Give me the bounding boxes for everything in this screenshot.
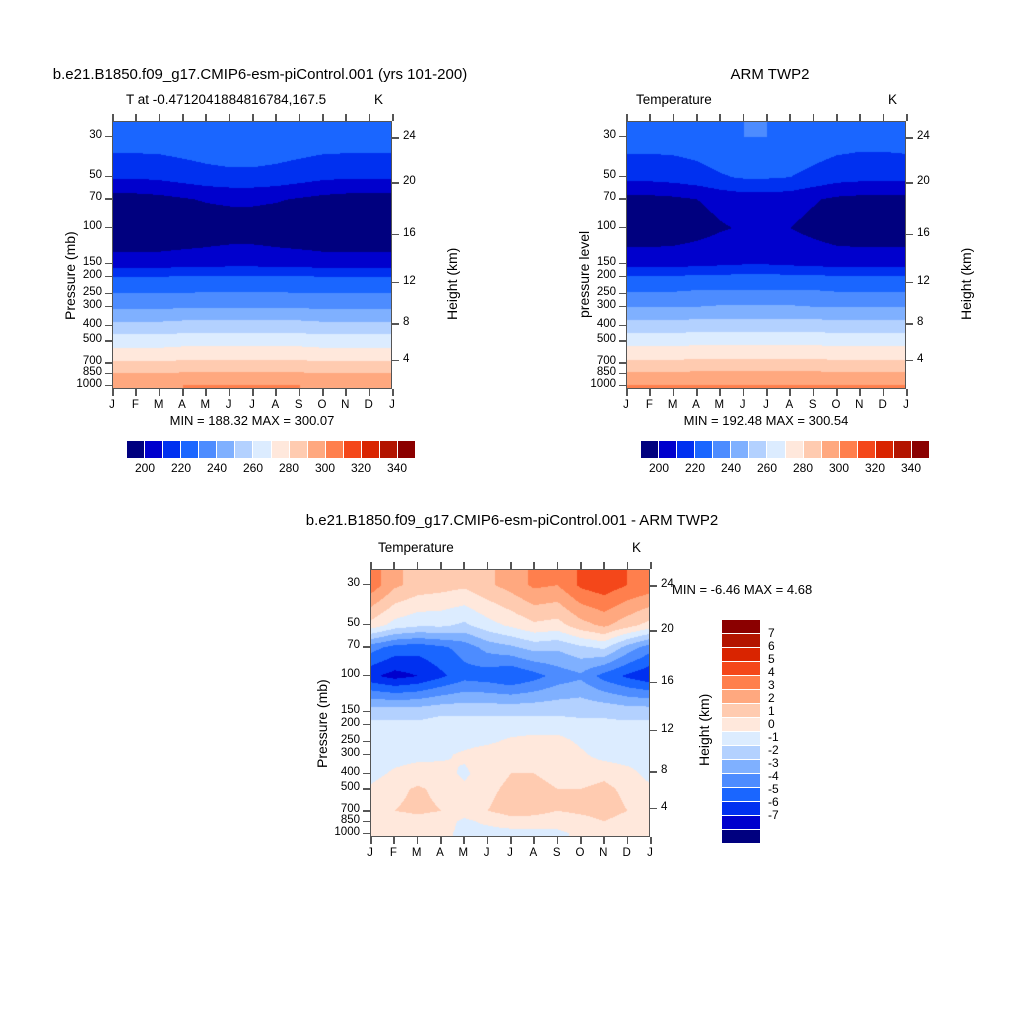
x-tick-top [906, 114, 908, 121]
x-tick-label-month: M [709, 399, 729, 411]
panel-model-subtitle-right: K [374, 92, 383, 107]
x-tick-top [696, 114, 698, 121]
x-tick-bottom [159, 389, 161, 396]
colorbar-swatch [722, 816, 760, 830]
y-tick-left [363, 788, 370, 790]
y-tick-label-height: 16 [917, 227, 943, 239]
x-tick-label-month: J [242, 399, 262, 411]
x-tick-bottom [766, 389, 768, 396]
y-tick-right [392, 182, 399, 184]
y-tick-label-height: 12 [661, 723, 687, 735]
y-tick-label-pressure: 400 [318, 766, 360, 778]
y-tick-left [105, 198, 112, 200]
x-tick-top [487, 562, 489, 569]
colorbar-swatch [253, 441, 271, 458]
y-tick-left [619, 306, 626, 308]
x-tick-bottom [510, 837, 512, 844]
x-tick-bottom [487, 837, 489, 844]
x-tick-label-month: J [360, 847, 380, 859]
x-tick-label-month: A [265, 399, 285, 411]
x-tick-bottom [813, 389, 815, 396]
y-tick-label-height: 8 [403, 316, 429, 328]
colorbar-tick-label: 320 [345, 461, 377, 475]
x-tick-top [859, 114, 861, 121]
x-tick-bottom [370, 837, 372, 844]
y-tick-label-pressure: 150 [318, 704, 360, 716]
x-tick-top [813, 114, 815, 121]
y-tick-left [105, 362, 112, 364]
y-tick-label-pressure: 30 [574, 129, 616, 141]
colorbar-tick-label: -4 [768, 769, 779, 783]
colorbar-swatch [722, 634, 760, 648]
colorbar-tick-label: 320 [859, 461, 891, 475]
x-tick-bottom [836, 389, 838, 396]
x-tick-top [182, 114, 184, 121]
y-tick-label-pressure: 30 [60, 129, 102, 141]
y-tick-left [619, 263, 626, 265]
x-tick-bottom [859, 389, 861, 396]
panel-difference-title: b.e21.B1850.f09_g17.CMIP6-esm-piControl.… [232, 512, 792, 529]
colorbar-swatch [722, 746, 760, 760]
x-tick-label-month: M [149, 399, 169, 411]
colorbar-swatch [380, 441, 398, 458]
panel-model-subtitle-left: T at -0.4712041884816784,167.5 [126, 92, 326, 107]
x-tick-top [673, 114, 675, 121]
x-tick-bottom [322, 389, 324, 396]
x-tick-bottom [603, 837, 605, 844]
x-tick-bottom [369, 389, 371, 396]
panel-model-colorbar[interactable] [127, 441, 415, 458]
colorbar-swatch [722, 774, 760, 788]
y-tick-right [392, 282, 399, 284]
y-tick-left [619, 293, 626, 295]
y-tick-left [363, 675, 370, 677]
x-tick-label-month: N [335, 399, 355, 411]
y-tick-right [392, 323, 399, 325]
y-tick-right [650, 730, 657, 732]
y-tick-label-pressure: 250 [574, 286, 616, 298]
y-tick-label-pressure: 1000 [318, 826, 360, 838]
y-tick-left [363, 584, 370, 586]
y-tick-left [619, 373, 626, 375]
x-tick-top [135, 114, 137, 121]
y-tick-right [650, 630, 657, 632]
y-tick-right [392, 360, 399, 362]
y-tick-label-pressure: 100 [574, 220, 616, 232]
x-tick-label-month: O [826, 399, 846, 411]
colorbar-swatch [272, 441, 290, 458]
x-tick-top [440, 562, 442, 569]
colorbar-tick-label: 200 [643, 461, 675, 475]
y-tick-right [392, 137, 399, 139]
x-tick-label-month: M [453, 847, 473, 859]
x-tick-label-month: J [219, 399, 239, 411]
colorbar-swatch [713, 441, 731, 458]
colorbar-swatch [326, 441, 344, 458]
x-tick-label-month: D [359, 399, 379, 411]
x-tick-top [299, 114, 301, 121]
y-tick-left [105, 385, 112, 387]
y-tick-label-pressure: 100 [318, 668, 360, 680]
colorbar-swatch [145, 441, 163, 458]
y-tick-left [619, 362, 626, 364]
y-tick-label-height: 16 [661, 675, 687, 687]
y-tick-left [105, 325, 112, 327]
colorbar-swatch [722, 830, 760, 844]
y-tick-label-height: 12 [917, 275, 943, 287]
y-tick-right [906, 182, 913, 184]
colorbar-swatch [290, 441, 308, 458]
panel-difference-plot-area [370, 569, 650, 837]
colorbar-tick-label: -6 [768, 795, 779, 809]
colorbar-swatch [695, 441, 713, 458]
panel-model-title: b.e21.B1850.f09_g17.CMIP6-esm-piControl.… [0, 66, 520, 83]
panel-obs-subtitle-right: K [888, 92, 897, 107]
x-tick-top [766, 114, 768, 121]
x-tick-label-month: J [756, 399, 776, 411]
y-tick-right [906, 323, 913, 325]
x-tick-label-month: M [195, 399, 215, 411]
colorbar-tick-label: -5 [768, 782, 779, 796]
x-tick-top [743, 114, 745, 121]
colorbar-swatch [767, 441, 785, 458]
x-tick-bottom [112, 389, 114, 396]
y-tick-right [906, 234, 913, 236]
colorbar-swatch [641, 441, 659, 458]
x-tick-label-month: F [125, 399, 145, 411]
colorbar-swatch [722, 676, 760, 690]
panel-model-ylabel-right: Height (km) [444, 248, 460, 320]
x-tick-label-month: M [663, 399, 683, 411]
y-tick-left [619, 385, 626, 387]
x-tick-top [719, 114, 721, 121]
x-tick-top [393, 562, 395, 569]
x-tick-bottom [673, 389, 675, 396]
x-tick-top [626, 114, 628, 121]
y-tick-right [650, 808, 657, 810]
y-tick-label-height: 8 [661, 764, 687, 776]
y-tick-label-height: 24 [917, 130, 943, 142]
y-tick-label-pressure: 50 [574, 169, 616, 181]
y-tick-label-pressure: 70 [60, 191, 102, 203]
x-tick-bottom [229, 389, 231, 396]
x-tick-label-month: A [779, 399, 799, 411]
x-tick-bottom [205, 389, 207, 396]
y-tick-label-pressure: 200 [574, 269, 616, 281]
colorbar-swatch [894, 441, 912, 458]
colorbar-tick-label: -2 [768, 743, 779, 757]
x-tick-top [275, 114, 277, 121]
y-tick-label-pressure: 150 [574, 256, 616, 268]
x-tick-label-month: J [733, 399, 753, 411]
x-tick-bottom [719, 389, 721, 396]
colorbar-swatch [181, 441, 199, 458]
colorbar-tick-label: 3 [768, 678, 775, 692]
y-tick-left [619, 325, 626, 327]
y-tick-left [105, 276, 112, 278]
colorbar-tick-label: 200 [129, 461, 161, 475]
colorbar-swatch [731, 441, 749, 458]
colorbar-swatch [722, 648, 760, 662]
colorbar-swatch [344, 441, 362, 458]
x-tick-bottom [135, 389, 137, 396]
panel-obs-subtitle-left: Temperature [636, 92, 712, 107]
colorbar-swatch [722, 620, 760, 634]
colorbar-swatch [235, 441, 253, 458]
y-tick-label-height: 4 [661, 801, 687, 813]
x-tick-label-month: O [570, 847, 590, 859]
x-tick-top [603, 562, 605, 569]
y-tick-right [650, 585, 657, 587]
y-tick-label-pressure: 200 [318, 717, 360, 729]
colorbar-swatch [786, 441, 804, 458]
y-tick-label-pressure: 1000 [574, 378, 616, 390]
x-tick-bottom [392, 389, 394, 396]
x-tick-top [345, 114, 347, 121]
colorbar-tick-label: -3 [768, 756, 779, 770]
x-tick-label-month: J [102, 399, 122, 411]
y-tick-label-pressure: 250 [60, 286, 102, 298]
colorbar-tick-label: 240 [201, 461, 233, 475]
x-tick-bottom [580, 837, 582, 844]
x-tick-bottom [649, 389, 651, 396]
panel-obs-ylabel-right: Height (km) [958, 248, 974, 320]
panel-obs-colorbar[interactable] [641, 441, 929, 458]
y-tick-left [619, 276, 626, 278]
x-tick-top [627, 562, 629, 569]
y-tick-left [363, 754, 370, 756]
x-tick-label-month: J [500, 847, 520, 859]
y-tick-label-height: 4 [917, 353, 943, 365]
colorbar-swatch [127, 441, 145, 458]
y-tick-label-pressure: 70 [318, 639, 360, 651]
y-tick-left [363, 624, 370, 626]
colorbar-swatch [822, 441, 840, 458]
x-tick-label-month: D [617, 847, 637, 859]
y-tick-left [363, 646, 370, 648]
x-tick-bottom [557, 837, 559, 844]
x-tick-label-month: J [616, 399, 636, 411]
x-tick-label-month: A [523, 847, 543, 859]
x-tick-label-month: D [873, 399, 893, 411]
x-tick-top [229, 114, 231, 121]
x-tick-label-month: O [312, 399, 332, 411]
y-tick-label-height: 24 [403, 130, 429, 142]
y-tick-label-pressure: 70 [574, 191, 616, 203]
x-tick-top [557, 562, 559, 569]
y-tick-left [105, 306, 112, 308]
y-tick-left [105, 373, 112, 375]
y-tick-right [906, 282, 913, 284]
colorbar-swatch [722, 732, 760, 746]
colorbar-swatch [217, 441, 235, 458]
colorbar-swatch [199, 441, 217, 458]
x-tick-bottom [883, 389, 885, 396]
colorbar-swatch [749, 441, 767, 458]
x-tick-bottom [906, 389, 908, 396]
x-tick-bottom [789, 389, 791, 396]
panel-difference-colorbar[interactable] [722, 620, 760, 844]
colorbar-swatch [804, 441, 822, 458]
x-tick-label-month: A [172, 399, 192, 411]
colorbar-tick-label: 7 [768, 626, 775, 640]
x-tick-top [252, 114, 254, 121]
y-tick-label-pressure: 500 [60, 333, 102, 345]
y-tick-left [363, 810, 370, 812]
colorbar-tick-label: 0 [768, 717, 775, 731]
colorbar-tick-label: 220 [679, 461, 711, 475]
x-tick-top [649, 114, 651, 121]
x-tick-top [463, 562, 465, 569]
y-tick-label-pressure: 300 [574, 299, 616, 311]
x-tick-bottom [252, 389, 254, 396]
panel-obs-title: ARM TWP2 [600, 66, 940, 83]
colorbar-swatch [308, 441, 326, 458]
x-tick-bottom [533, 837, 535, 844]
panel-difference-subtitle-left: Temperature [378, 540, 454, 555]
y-tick-label-pressure: 300 [318, 747, 360, 759]
x-tick-label-month: F [639, 399, 659, 411]
x-tick-label-month: M [407, 847, 427, 859]
colorbar-tick-label: 240 [715, 461, 747, 475]
x-tick-bottom [440, 837, 442, 844]
colorbar-swatch [840, 441, 858, 458]
x-tick-label-month: J [896, 399, 916, 411]
x-tick-top [533, 562, 535, 569]
y-tick-left [105, 263, 112, 265]
x-tick-bottom [182, 389, 184, 396]
y-tick-left [363, 724, 370, 726]
colorbar-tick-label: 220 [165, 461, 197, 475]
x-tick-label-month: J [477, 847, 497, 859]
colorbar-swatch [659, 441, 677, 458]
colorbar-tick-label: 5 [768, 652, 775, 666]
y-tick-label-height: 24 [661, 578, 687, 590]
colorbar-swatch [876, 441, 894, 458]
x-tick-top [580, 562, 582, 569]
y-tick-label-height: 4 [403, 353, 429, 365]
y-tick-label-pressure: 300 [60, 299, 102, 311]
colorbar-swatch [722, 760, 760, 774]
x-tick-bottom [627, 837, 629, 844]
x-tick-top [205, 114, 207, 121]
y-tick-left [619, 198, 626, 200]
x-tick-label-month: J [382, 399, 402, 411]
colorbar-tick-label: 1 [768, 704, 775, 718]
colorbar-swatch [362, 441, 380, 458]
y-tick-label-pressure: 50 [318, 617, 360, 629]
y-tick-left [363, 821, 370, 823]
panel-model-colorbar-labels: 200220240260280300320340 [127, 461, 415, 479]
x-tick-top [417, 562, 419, 569]
y-tick-label-pressure: 30 [318, 577, 360, 589]
colorbar-swatch [722, 704, 760, 718]
panel-difference-subtitle-right: K [632, 540, 641, 555]
x-tick-top [510, 562, 512, 569]
x-tick-label-month: S [547, 847, 567, 859]
x-tick-bottom [626, 389, 628, 396]
y-tick-left [105, 176, 112, 178]
y-tick-label-pressure: 400 [60, 318, 102, 330]
y-tick-left [363, 741, 370, 743]
x-tick-label-month: A [430, 847, 450, 859]
y-tick-label-pressure: 850 [60, 366, 102, 378]
y-tick-left [619, 176, 626, 178]
colorbar-swatch [722, 690, 760, 704]
y-tick-label-pressure: 1000 [60, 378, 102, 390]
y-tick-label-pressure: 150 [60, 256, 102, 268]
x-tick-top [112, 114, 114, 121]
y-tick-label-pressure: 850 [574, 366, 616, 378]
panel-obs-colorbar-labels: 200220240260280300320340 [641, 461, 929, 479]
panel-difference-minmax: MIN = -6.46 MAX = 4.68 [672, 582, 872, 597]
colorbar-tick-label: 260 [237, 461, 269, 475]
y-tick-label-height: 16 [403, 227, 429, 239]
y-tick-right [906, 137, 913, 139]
y-tick-label-height: 20 [403, 175, 429, 187]
x-tick-bottom [393, 837, 395, 844]
x-tick-top [836, 114, 838, 121]
panel-difference-ylabel-right: Height (km) [696, 694, 712, 766]
panel-obs-plot-area [626, 121, 906, 389]
colorbar-swatch [677, 441, 695, 458]
colorbar-tick-label: 340 [895, 461, 927, 475]
x-tick-label-month: J [640, 847, 660, 859]
y-tick-label-height: 8 [917, 316, 943, 328]
x-tick-top [322, 114, 324, 121]
x-tick-top [369, 114, 371, 121]
x-tick-bottom [345, 389, 347, 396]
colorbar-swatch [163, 441, 181, 458]
y-tick-left [619, 227, 626, 229]
x-tick-bottom [417, 837, 419, 844]
x-tick-bottom [743, 389, 745, 396]
x-tick-bottom [650, 837, 652, 844]
colorbar-swatch [398, 441, 415, 458]
y-tick-label-pressure: 50 [60, 169, 102, 181]
y-tick-left [105, 136, 112, 138]
colorbar-tick-label: 4 [768, 665, 775, 679]
panel-obs-minmax: MIN = 192.48 MAX = 300.54 [626, 413, 906, 428]
colorbar-swatch [912, 441, 929, 458]
y-tick-left [105, 293, 112, 295]
y-tick-left [363, 833, 370, 835]
x-tick-label-month: S [803, 399, 823, 411]
x-tick-label-month: N [593, 847, 613, 859]
x-tick-top [883, 114, 885, 121]
colorbar-tick-label: 280 [273, 461, 305, 475]
y-tick-label-pressure: 250 [318, 734, 360, 746]
y-tick-label-pressure: 100 [60, 220, 102, 232]
y-tick-left [363, 711, 370, 713]
y-tick-label-height: 20 [661, 623, 687, 635]
colorbar-swatch [858, 441, 876, 458]
y-tick-right [906, 360, 913, 362]
y-tick-right [650, 771, 657, 773]
colorbar-tick-label: 300 [309, 461, 341, 475]
x-tick-bottom [275, 389, 277, 396]
colorbar-tick-label: 260 [751, 461, 783, 475]
colorbar-tick-label: 6 [768, 639, 775, 653]
x-tick-top [789, 114, 791, 121]
x-tick-top [650, 562, 652, 569]
y-tick-left [619, 340, 626, 342]
x-tick-label-month: S [289, 399, 309, 411]
y-tick-right [650, 682, 657, 684]
colorbar-swatch [722, 718, 760, 732]
y-tick-label-pressure: 500 [318, 781, 360, 793]
y-tick-label-pressure: 400 [574, 318, 616, 330]
